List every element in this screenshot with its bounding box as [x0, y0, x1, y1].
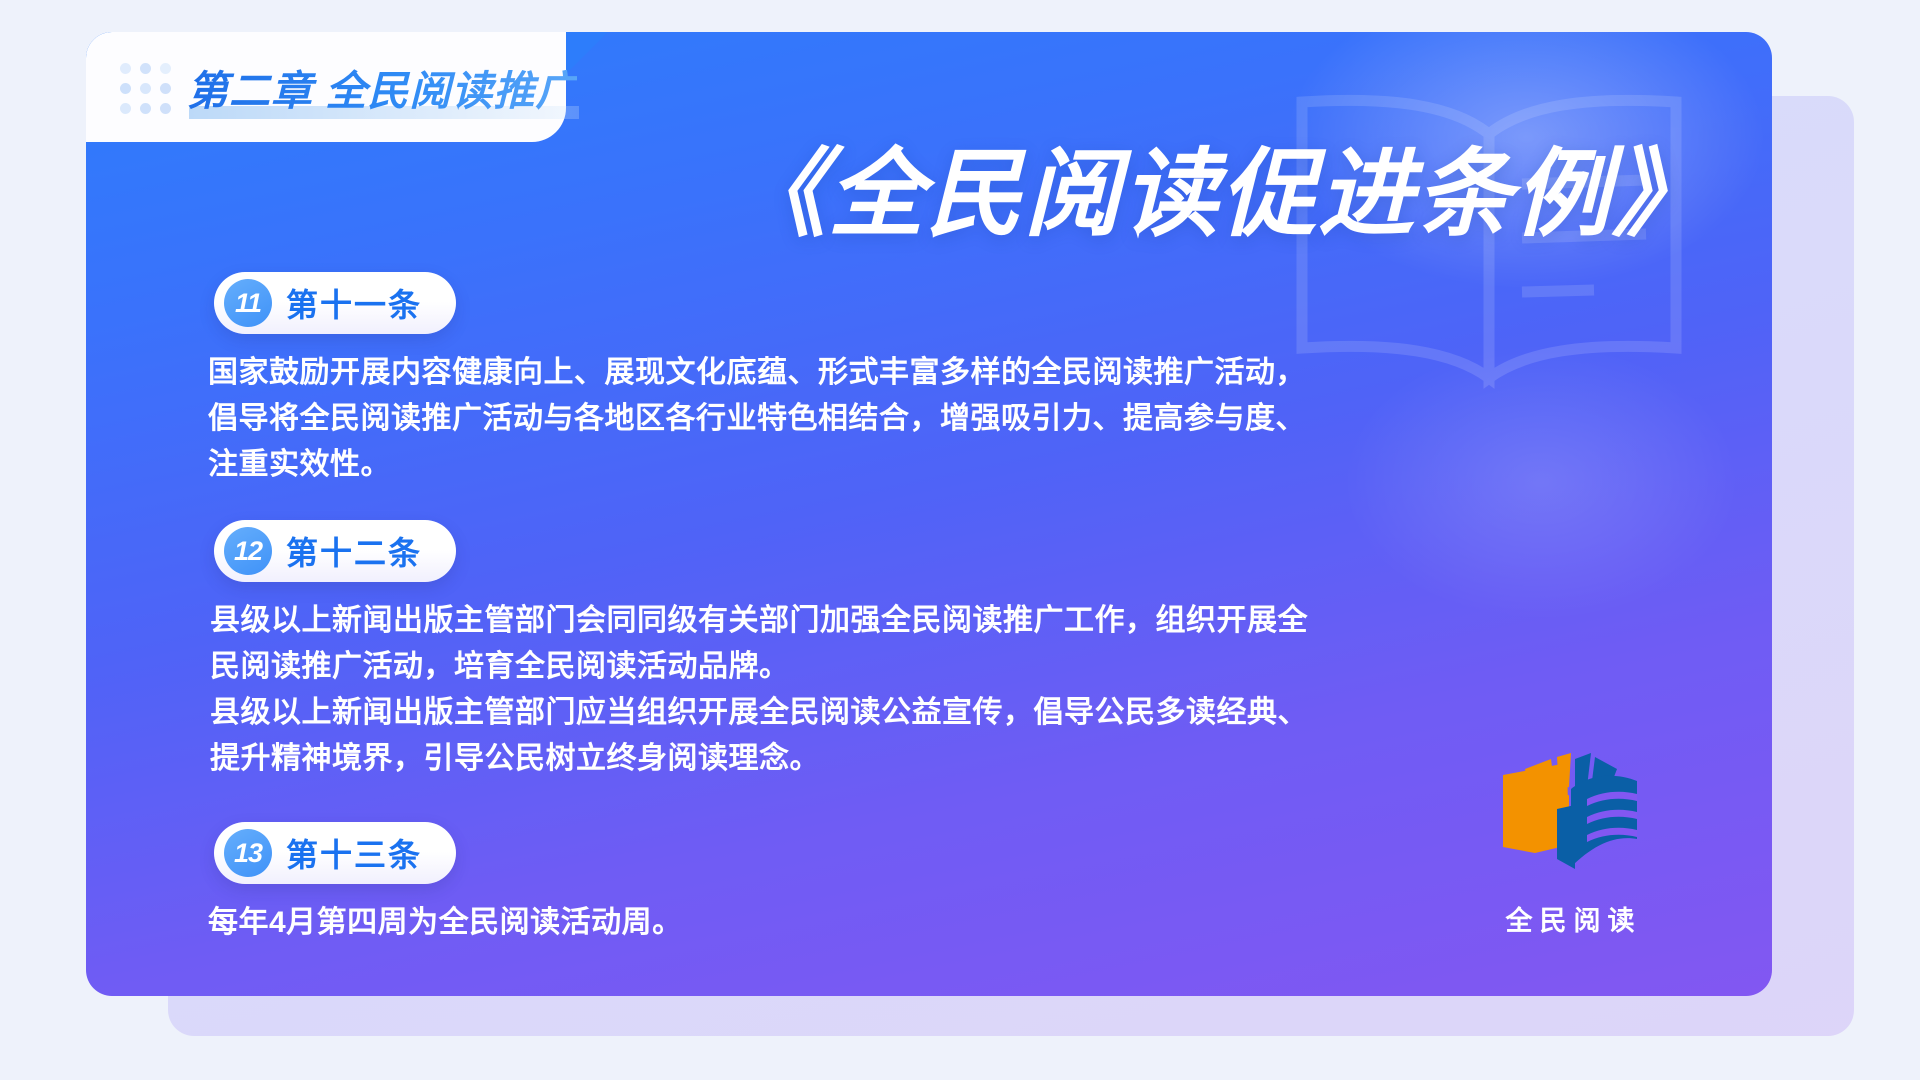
- article-block-12: 12 第十二条 县级以上新闻出版主管部门会同同级有关部门加强全民阅读推广工作，组…: [214, 520, 1308, 782]
- article-number-11: 11: [224, 279, 272, 327]
- article-badge-12[interactable]: 12 第十二条: [214, 520, 456, 582]
- main-poster-card: 第二章 全民阅读推广 《全民阅读促进条例》 11 第十一条 国家鼓励开展内容健康…: [86, 32, 1772, 996]
- dot-grid-icon: [120, 63, 173, 116]
- article-label-11: 第十一条: [286, 280, 422, 326]
- article-body-12: 县级以上新闻出版主管部门会同同级有关部门加强全民阅读推广工作，组织开展全 民阅读…: [210, 598, 1308, 782]
- article-label-12: 第十二条: [286, 528, 422, 574]
- article-body-13: 每年4月第四周为全民阅读活动周。: [208, 900, 683, 946]
- article-badge-11[interactable]: 11 第十一条: [214, 272, 456, 334]
- article-number-12: 12: [224, 527, 272, 575]
- article-number-13: 13: [224, 829, 272, 877]
- logo-text: 全民阅读: [1480, 899, 1660, 938]
- open-book-logo-icon: [1495, 749, 1645, 889]
- chapter-tab[interactable]: 第二章 全民阅读推广: [86, 32, 566, 142]
- chapter-title-wrap: 第二章 全民阅读推广: [187, 57, 577, 117]
- article-block-13: 13 第十三条 每年4月第四周为全民阅读活动周。: [214, 822, 683, 946]
- logo: 全民阅读: [1480, 749, 1660, 938]
- light-blob-mid: [1326, 332, 1756, 632]
- page-title: 《全民阅读促进条例》: [730, 116, 1710, 255]
- article-badge-13[interactable]: 13 第十三条: [214, 822, 456, 884]
- article-block-11: 11 第十一条 国家鼓励开展内容健康向上、展现文化底蕴、形式丰富多样的全民阅读推…: [214, 272, 1306, 488]
- chapter-title: 第二章 全民阅读推广: [187, 57, 577, 117]
- article-label-13: 第十三条: [286, 830, 422, 876]
- article-body-11: 国家鼓励开展内容健康向上、展现文化底蕴、形式丰富多样的全民阅读推广活动， 倡导将…: [208, 350, 1306, 488]
